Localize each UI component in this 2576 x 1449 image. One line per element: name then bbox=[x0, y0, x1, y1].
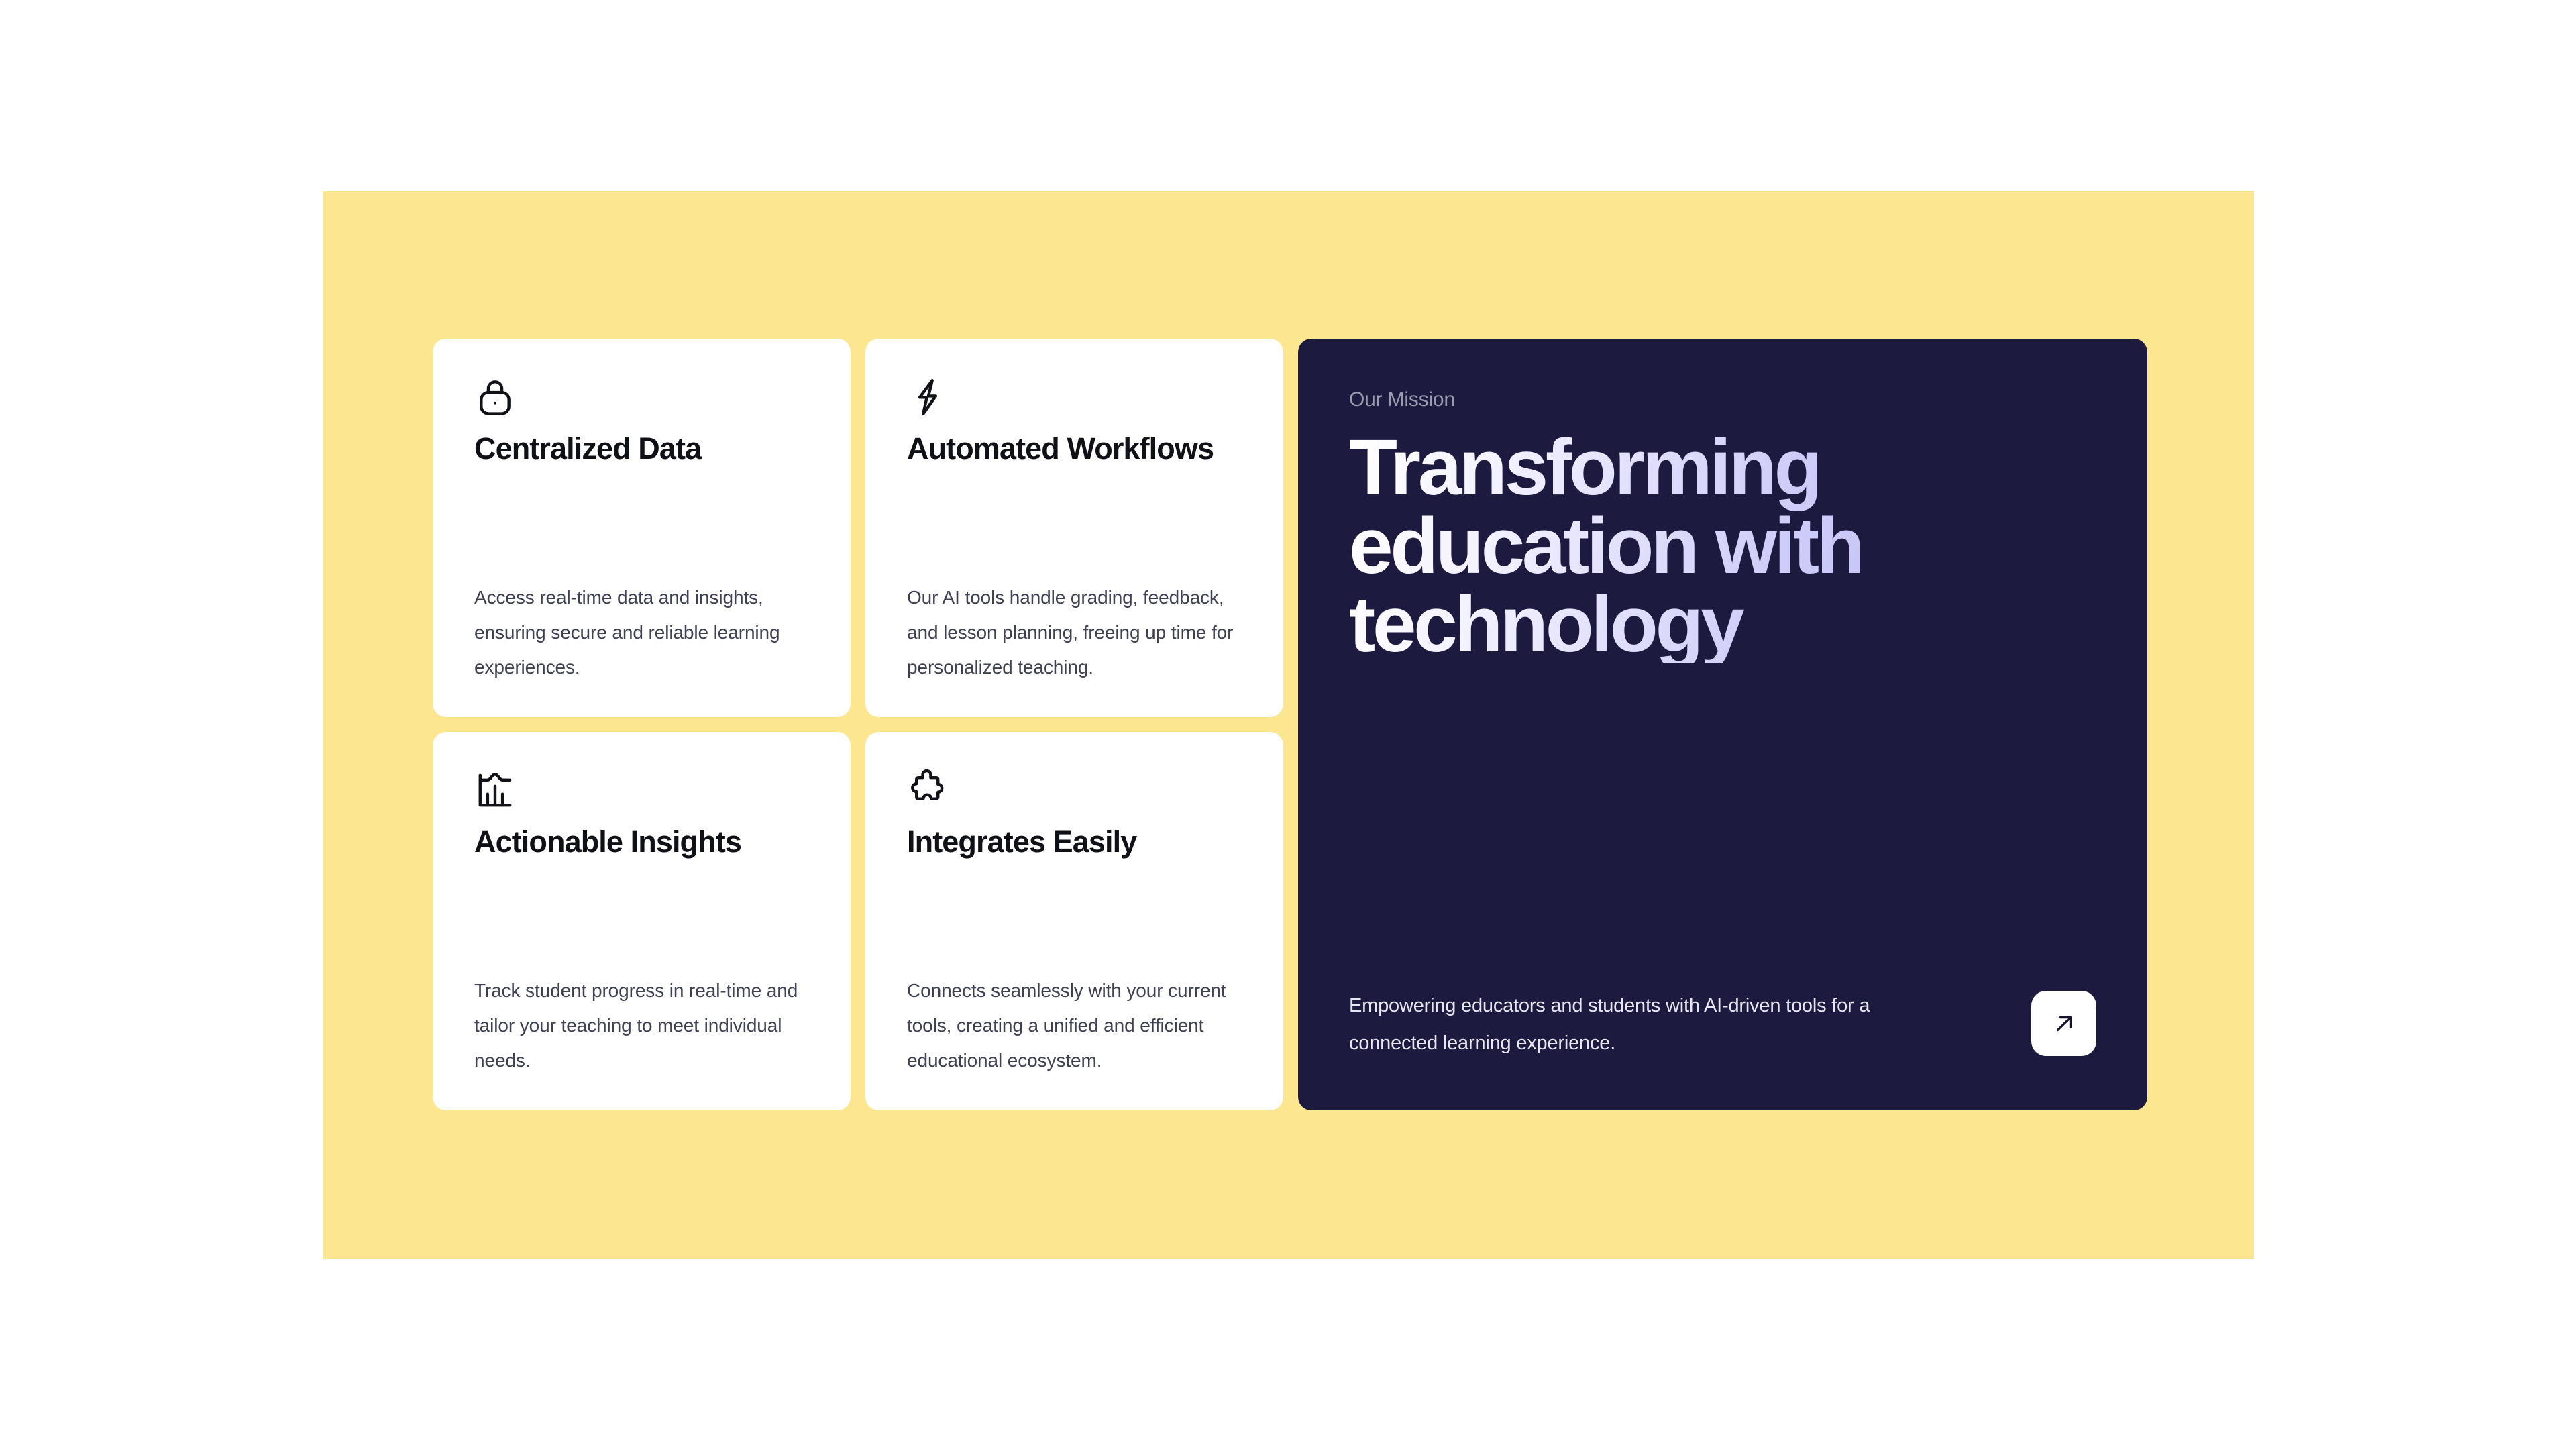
feature-card-actionable-insights[interactable]: Actionable Insights Track student progre… bbox=[433, 732, 851, 1110]
feature-card-integrates-easily[interactable]: Integrates Easily Connects seamlessly wi… bbox=[865, 732, 1283, 1110]
mission-heading: Transforming education with technology bbox=[1349, 429, 2033, 663]
feature-card-title: Centralized Data bbox=[474, 431, 809, 466]
mission-cta-button[interactable] bbox=[2031, 991, 2096, 1056]
mission-subtext: Empowering educators and students with A… bbox=[1349, 987, 1886, 1062]
mission-eyebrow: Our Mission bbox=[1349, 388, 2096, 411]
feature-card-description: Connects seamlessly with your current to… bbox=[907, 973, 1242, 1078]
page-root: Centralized Data Access real-time data a… bbox=[0, 0, 2576, 1449]
lightning-bolt-icon bbox=[907, 376, 949, 418]
feature-card-title: Automated Workflows bbox=[907, 431, 1242, 466]
arrow-up-right-icon bbox=[2050, 1010, 2078, 1038]
feature-card-title: Integrates Easily bbox=[907, 824, 1242, 859]
mission-panel: Our Mission Transforming education with … bbox=[1298, 339, 2147, 1110]
feature-card-centralized-data[interactable]: Centralized Data Access real-time data a… bbox=[433, 339, 851, 717]
feature-card-automated-workflows[interactable]: Automated Workflows Our AI tools handle … bbox=[865, 339, 1283, 717]
puzzle-piece-icon bbox=[907, 769, 949, 811]
mission-footer: Empowering educators and students with A… bbox=[1349, 987, 2096, 1062]
feature-card-description: Track student progress in real-time and … bbox=[474, 973, 809, 1078]
content-layout: Centralized Data Access real-time data a… bbox=[433, 339, 2147, 1110]
feature-card-description: Our AI tools handle grading, feedback, a… bbox=[907, 563, 1242, 685]
feature-card-grid: Centralized Data Access real-time data a… bbox=[433, 339, 1283, 1110]
lock-icon bbox=[474, 376, 516, 418]
feature-card-description: Access real-time data and insights, ensu… bbox=[474, 563, 809, 685]
bar-chart-icon bbox=[474, 769, 516, 811]
feature-card-title: Actionable Insights bbox=[474, 824, 809, 859]
